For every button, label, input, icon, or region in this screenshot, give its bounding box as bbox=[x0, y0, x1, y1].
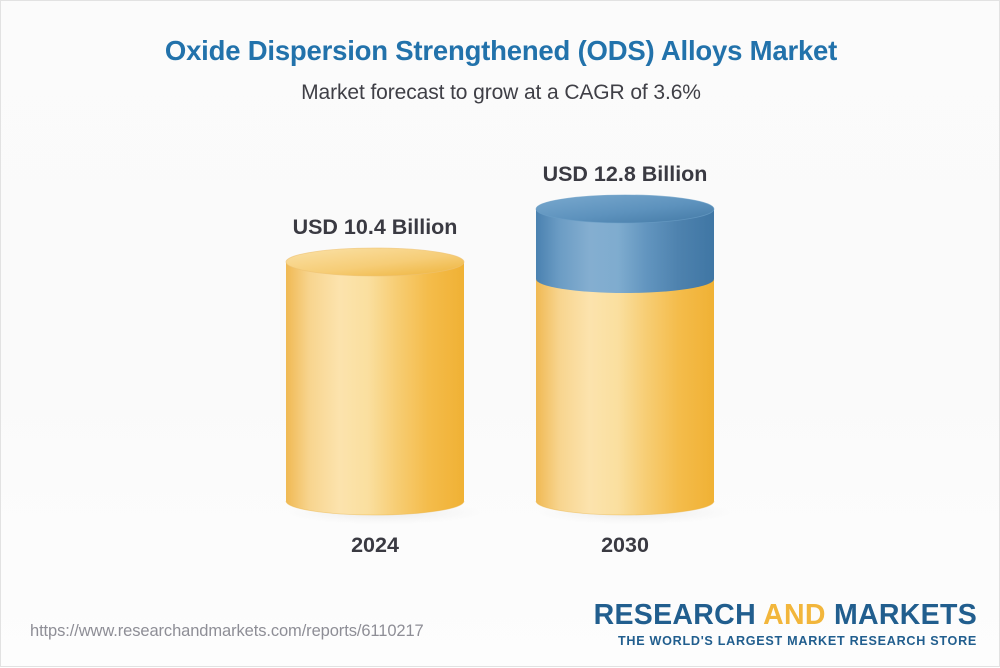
research-and-markets-logo: RESEARCH AND MARKETS THE WORLD'S LARGEST… bbox=[594, 601, 977, 647]
logo-word-and: AND bbox=[763, 599, 826, 631]
market-forecast-poster: Oxide Dispersion Strengthened (ODS) Allo… bbox=[0, 0, 1000, 667]
bar-value-label-2024: USD 10.4 Billion bbox=[205, 215, 545, 240]
cylinder-bar-2030 bbox=[530, 197, 720, 525]
report-url[interactable]: https://www.researchandmarkets.com/repor… bbox=[30, 622, 424, 641]
logo-wordmark: RESEARCH AND MARKETS bbox=[594, 601, 977, 630]
logo-word-research: RESEARCH bbox=[594, 599, 764, 631]
bar-value-label-2030: USD 12.8 Billion bbox=[455, 162, 795, 187]
cylinder-bar-2024 bbox=[280, 250, 470, 525]
cylinder-bar-chart: USD 10.4 Billion bbox=[1, 1, 1000, 668]
bar-category-label-2030: 2030 bbox=[455, 533, 795, 558]
logo-word-markets: MARKETS bbox=[826, 599, 977, 631]
logo-tagline: THE WORLD'S LARGEST MARKET RESEARCH STOR… bbox=[594, 635, 977, 648]
